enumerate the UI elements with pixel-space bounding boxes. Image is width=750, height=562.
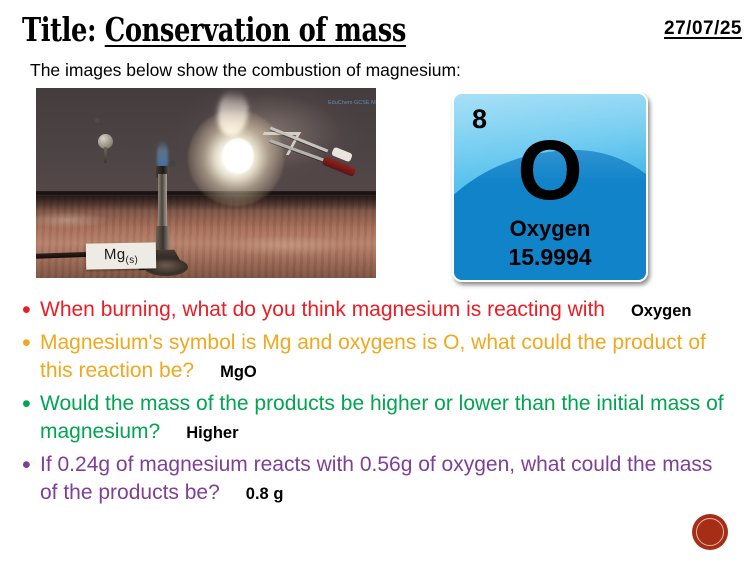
element-symbol: O <box>454 128 646 212</box>
slide-date: 27/07/25 <box>664 18 742 40</box>
question-text: When burning, what do you think magnesiu… <box>40 296 692 326</box>
bullet-marker-icon: • <box>22 296 40 325</box>
question-body: When burning, what do you think magnesiu… <box>40 298 605 321</box>
magnesium-label-symbol: Mg <box>104 246 126 263</box>
magnesium-label-state: (s) <box>125 255 138 266</box>
bullet-marker-icon: • <box>22 329 40 358</box>
bullet-marker-icon: • <box>22 451 40 480</box>
answer-text: Oxygen <box>605 302 692 320</box>
slide-subtitle: The images below show the combustion of … <box>30 60 461 81</box>
bunsen-barrel <box>158 174 167 230</box>
periodic-element-tile-oxygen: 8 O Oxygen 15.9994 <box>452 92 648 282</box>
list-item: • Magnesium's symbol is Mg and oxygens i… <box>22 329 728 387</box>
question-list: • When burning, what do you think magnes… <box>22 296 728 512</box>
bullet-marker-icon: • <box>22 390 40 419</box>
magnesium-combustion-photo: Mg(s) EduChem GCSE Magnesium <box>36 88 376 278</box>
question-body: If 0.24g of magnesium reacts with 0.56g … <box>40 453 712 505</box>
element-atomic-mass: 15.9994 <box>454 244 646 271</box>
question-text: If 0.24g of magnesium reacts with 0.56g … <box>40 451 728 509</box>
photo-bench-shadow <box>36 196 376 210</box>
photo-wall-knob-stem <box>104 147 107 163</box>
question-text: Would the mass of the products be higher… <box>40 390 728 448</box>
element-name: Oxygen <box>454 216 646 242</box>
question-text: Magnesium's symbol is Mg and oxygens is … <box>40 329 728 387</box>
photo-watermark: EduChem GCSE Magnesium <box>328 100 376 107</box>
answer-text: 0.8 g <box>220 485 284 503</box>
list-item: • If 0.24g of magnesium reacts with 0.56… <box>22 451 728 509</box>
magnesium-flame-core <box>222 138 254 174</box>
bunsen-collar <box>156 226 169 250</box>
magnesium-label-text: Mg(s) <box>104 246 138 267</box>
corner-circle-icon <box>692 514 728 550</box>
answer-text: MgO <box>194 363 257 381</box>
question-body: Magnesium's symbol is Mg and oxygens is … <box>40 331 706 383</box>
page-title-prefix: Title: <box>22 10 105 49</box>
page-title: Title: Conservation of mass <box>22 12 406 48</box>
list-item: • When burning, what do you think magnes… <box>22 296 728 326</box>
answer-text: Higher <box>160 424 238 442</box>
page-title-main: Conservation of mass <box>105 10 406 49</box>
list-item: • Would the mass of the products be high… <box>22 390 728 448</box>
question-body: Would the mass of the products be higher… <box>40 392 724 444</box>
magnesium-label-card: Mg(s) <box>86 242 156 269</box>
